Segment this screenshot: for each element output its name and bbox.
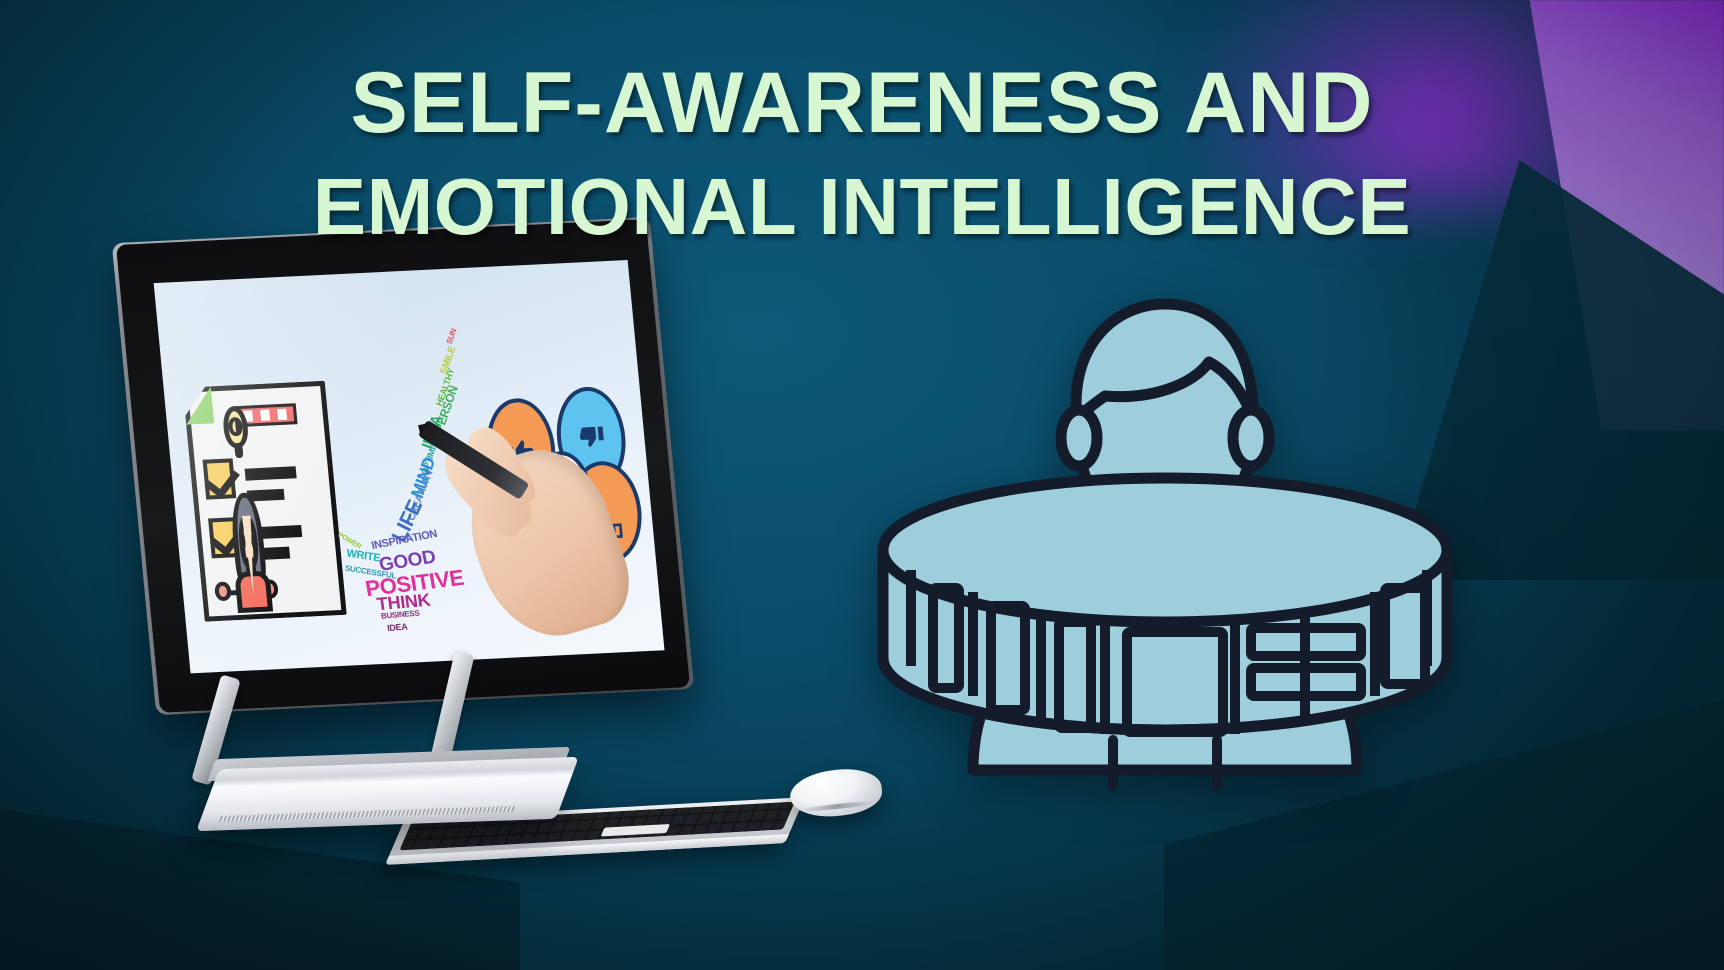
hand-holding-stylus [432,394,644,645]
word-cloud-word: BUSINESS [380,610,419,621]
word-cloud-word: IDEA [386,622,407,633]
word-cloud-word: WRITE [346,549,381,565]
desktop-computer: SUNSMILEHEALTHYPERSONIDEAOPTIMISTICMINDC… [110,215,710,855]
monitor-screen[interactable]: SUNSMILEHEALTHYPERSONIDEAOPTIMISTICMINDC… [154,260,665,673]
lightbulb-icon [222,406,250,449]
title-line-2: EMOTIONAL INTELLIGENCE [0,169,1724,246]
slide-canvas: SELF-AWARENESS AND EMOTIONAL INTELLIGENC… [0,0,1724,970]
person-surrounded-by-curved-screens [855,270,1475,790]
word-cloud-word: SUN [445,327,458,345]
page-title: SELF-AWARENESS AND EMOTIONAL INTELLIGENC… [0,62,1724,245]
monitor-bezel: SUNSMILEHEALTHYPERSONIDEAOPTIMISTICMINDC… [116,219,690,713]
title-line-1: SELF-AWARENESS AND [0,62,1724,145]
checklist-illustration [183,381,347,622]
checklist-text-line [245,467,297,481]
